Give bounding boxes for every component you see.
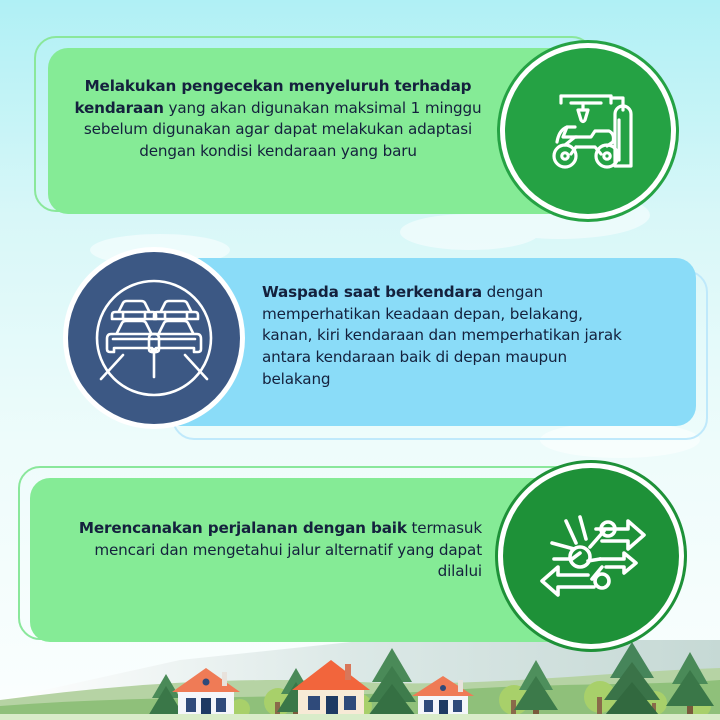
card-1-badge: [505, 48, 671, 214]
card-3-text: Merencanakan perjalanan dengan baik term…: [46, 518, 482, 583]
card-2-bold-text: Waspada saat berkendara: [262, 283, 482, 301]
card-1-text: Melakukan pengecekan menyeluruh terhadap…: [62, 76, 494, 163]
motorcycle-service-lift-icon: [533, 76, 643, 186]
alternative-routes-arrows-icon: [532, 497, 650, 615]
card-3-bold-text: Merencanakan perjalanan dengan baik: [79, 519, 407, 537]
card-3-badge: [503, 468, 679, 644]
traffic-cars-lanes-icon: [83, 267, 225, 409]
card-2-text: Waspada saat berkendara dengan memperhat…: [262, 282, 634, 391]
card-2-badge: [68, 252, 240, 424]
